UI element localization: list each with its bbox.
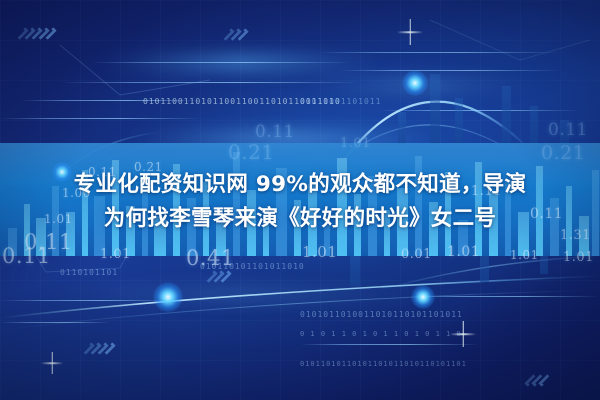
circuit-line — [0, 300, 170, 301]
ghost-bar — [560, 120, 569, 144]
chevron-right-group-lower-icon — [86, 342, 112, 355]
line-lower-right — [380, 256, 600, 290]
line-lower-sweep — [0, 276, 600, 318]
circuit-line — [20, 100, 200, 101]
circuit-line — [0, 322, 110, 323]
ghost-bar — [540, 256, 548, 274]
binary-string: 0101100110101100110011010110011010 — [143, 97, 341, 106]
binary-string: 0110101101 — [60, 268, 118, 277]
binary-string: 01011001101011 — [300, 97, 381, 106]
thumbnail-image: 0.110.210.110.211.000.111.010.110.111.01… — [0, 0, 600, 400]
circuit-line — [340, 70, 560, 71]
binary-string: 0101011010011010110101101011 — [300, 310, 463, 319]
data-number: 0.11 — [255, 122, 295, 142]
binary-string: 01011010110101101011010110101101 — [300, 360, 467, 368]
ghost-bar — [480, 256, 489, 282]
circuit-line — [300, 344, 480, 345]
chevron-right-group-top-right-icon — [226, 28, 245, 41]
wireframe-top-right — [430, 20, 590, 60]
chevron-right-group-top-left-icon — [20, 27, 53, 40]
circuit-line — [380, 110, 580, 111]
binary-string: 010110101101011010 — [200, 262, 305, 271]
wireframe-top-left — [60, 45, 210, 95]
ghost-bar — [530, 106, 538, 144]
glow-node-curve-peak — [402, 70, 428, 96]
circuit-line — [60, 82, 360, 83]
headline-line-1: 专业化配资知识网 99%的观众都不知道，导演 — [74, 172, 527, 197]
glow-node-lower-right — [411, 285, 435, 309]
circuit-line — [320, 52, 560, 53]
headline: 专业化配资知识网 99%的观众都不知道，导演 为何找李雪琴来演《好好的时光》女二… — [0, 168, 600, 236]
ghost-bar — [502, 86, 511, 144]
headline-line-2: 为何找李雪琴来演《好好的时光》女二号 — [0, 202, 600, 236]
circuit-line — [90, 62, 350, 63]
glow-node-lower-left — [153, 282, 183, 312]
sparkle-top — [397, 19, 423, 45]
glow-streak-lower — [30, 292, 450, 297]
circuit-line — [410, 296, 600, 297]
chevron-right-group-mid-icon — [209, 270, 228, 283]
binary-string: 0 1 0 1 1 0 1 0 1 1 0 1 0 1 1 0 — [300, 330, 462, 338]
ghost-bar — [350, 256, 360, 286]
ghost-bar — [455, 98, 463, 144]
circuit-line — [0, 118, 200, 119]
ghost-bar — [430, 74, 440, 144]
sparkle-lower-left — [41, 352, 63, 374]
chevron-left-group-bottom-right-icon — [528, 374, 547, 387]
ghost-bar — [398, 112, 406, 144]
